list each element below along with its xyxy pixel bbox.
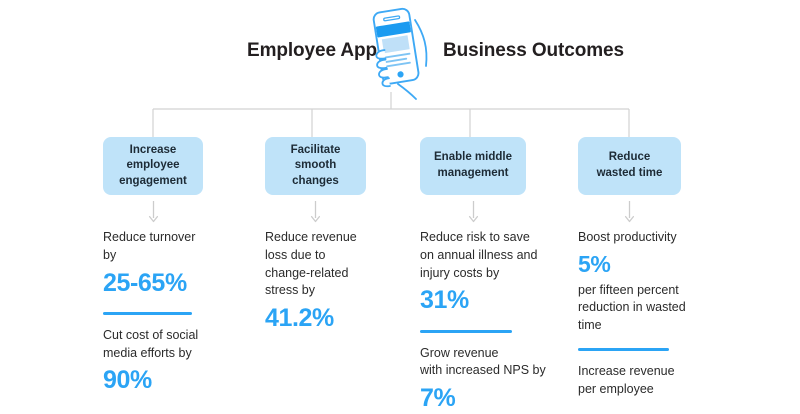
outcome-box-enable-middle-management[interactable]: Enable middlemanagement xyxy=(420,137,526,195)
stat-label: Boost productivity xyxy=(578,229,706,247)
arrow-down-icon xyxy=(420,195,526,229)
stat-divider xyxy=(578,348,669,351)
outcome-column-3: Enable middlemanagement Reduce risk to s… xyxy=(420,137,526,414)
stat-block: Reduce turnoverby 25-65% xyxy=(103,229,203,299)
stat-label: Increase revenueper employee xyxy=(578,363,706,399)
outcome-box-label: Enable middlemanagement xyxy=(434,150,512,181)
stat-value: 7% xyxy=(420,383,550,414)
outcome-column-4: Reducewasted time Boost productivity 5% … xyxy=(578,137,681,398)
stat-divider xyxy=(103,312,192,315)
stat-value: 5% xyxy=(578,250,706,279)
infographic-canvas: Employee App Business Outcomes xyxy=(0,0,800,414)
hand-holding-phone-illustration xyxy=(358,4,438,100)
outcome-column-2: Facilitatesmooth changes Reduce revenuel… xyxy=(265,137,366,334)
stat-label: Cut cost of socialmedia efforts by xyxy=(103,327,218,363)
outcome-box-label: Facilitatesmooth changes xyxy=(271,143,360,190)
stat-block: Reduce revenueloss due tochange-relateds… xyxy=(265,229,366,334)
arrow-down-icon xyxy=(265,195,366,229)
arrow-down-icon xyxy=(103,195,203,229)
stat-value: 41.2% xyxy=(265,303,383,334)
arrow-down-icon xyxy=(578,195,681,229)
outcome-column-1: Increase employeeengagement Reduce turno… xyxy=(103,137,203,397)
stat-label: Reduce turnoverby xyxy=(103,229,218,265)
page-title-right: Business Outcomes xyxy=(443,40,624,62)
stat-sublabel: per fifteen percentreduction in wasted t… xyxy=(578,282,706,335)
stat-block: Cut cost of socialmedia efforts by 90% xyxy=(103,327,203,397)
outcome-box-facilitate-smooth-changes[interactable]: Facilitatesmooth changes xyxy=(265,137,366,195)
stat-block: Increase revenueper employee xyxy=(578,363,681,399)
stat-value: 31% xyxy=(420,285,550,316)
stat-label: Reduce risk to saveon annual illness and… xyxy=(420,229,550,282)
stat-value: 90% xyxy=(103,365,218,396)
stat-divider xyxy=(420,330,512,333)
stat-value: 25-65% xyxy=(103,268,218,299)
stat-block: Grow revenuewith increased NPS by 7% xyxy=(420,345,526,414)
stat-block: Reduce risk to saveon annual illness and… xyxy=(420,229,526,317)
outcome-box-label: Reducewasted time xyxy=(597,150,663,181)
stat-block: Boost productivity 5% per fifteen percen… xyxy=(578,229,681,335)
outcome-box-increase-employee-engagement[interactable]: Increase employeeengagement xyxy=(103,137,203,195)
outcome-box-label: Increase employeeengagement xyxy=(109,143,197,190)
outcome-box-reduce-wasted-time[interactable]: Reducewasted time xyxy=(578,137,681,195)
stat-label: Reduce revenueloss due tochange-relateds… xyxy=(265,229,383,300)
stat-label: Grow revenuewith increased NPS by xyxy=(420,345,550,381)
